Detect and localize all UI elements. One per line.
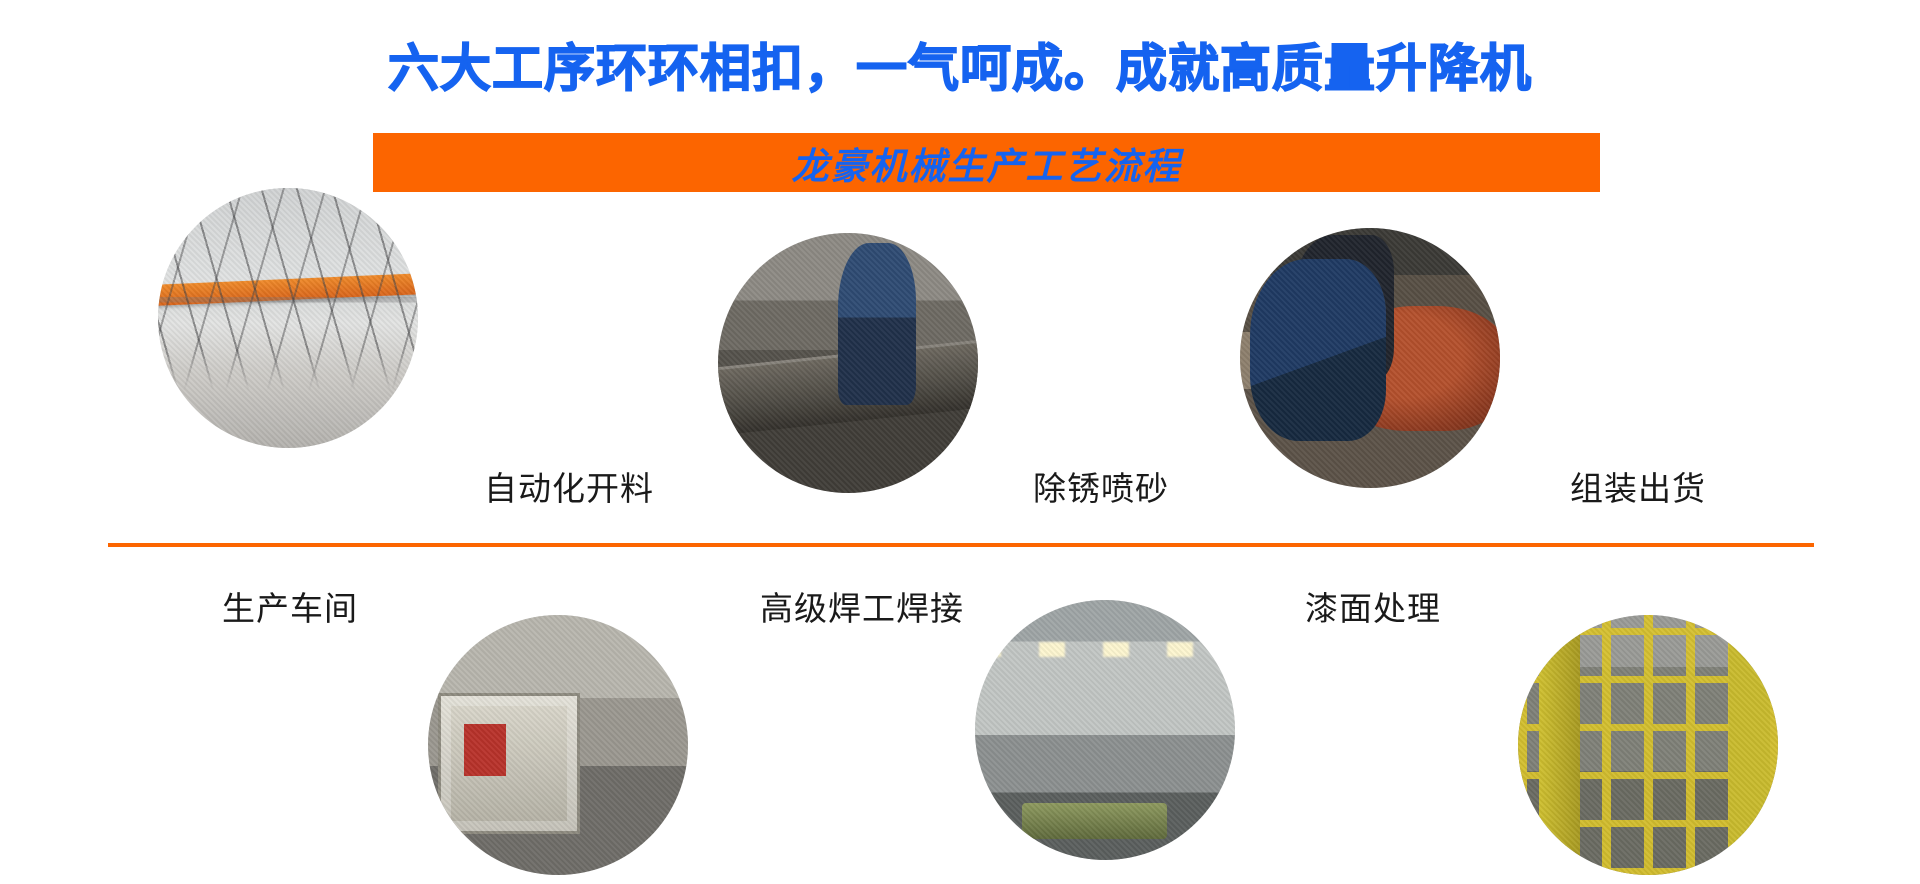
page-headline: 六大工序环环相扣，一气呵成。成就高质量升降机 — [0, 42, 1920, 96]
step-image-workshop — [158, 188, 418, 448]
step-image-welding — [428, 615, 688, 875]
section-banner: 龙豪机械生产工艺流程 — [373, 133, 1600, 192]
section-divider — [108, 543, 1814, 547]
step-label-cutting: 自动化开料 — [484, 472, 654, 505]
step-image-painting — [975, 600, 1235, 860]
section-banner-text: 龙豪机械生产工艺流程 — [373, 136, 1600, 190]
step-image-assembly — [1518, 615, 1778, 875]
step-label-workshop: 生产车间 — [222, 592, 358, 625]
step-label-painting: 漆面处理 — [1305, 592, 1441, 625]
step-label-welding: 高级焊工焊接 — [760, 592, 964, 625]
step-image-cutting — [718, 233, 978, 493]
step-image-sandblast — [1240, 228, 1500, 488]
step-label-assembly: 组装出货 — [1570, 472, 1706, 505]
step-label-sandblast: 除锈喷砂 — [1033, 472, 1169, 505]
process-flow-page: 六大工序环环相扣，一气呵成。成就高质量升降机 龙豪机械生产工艺流程 自动化开料 … — [0, 0, 1920, 884]
